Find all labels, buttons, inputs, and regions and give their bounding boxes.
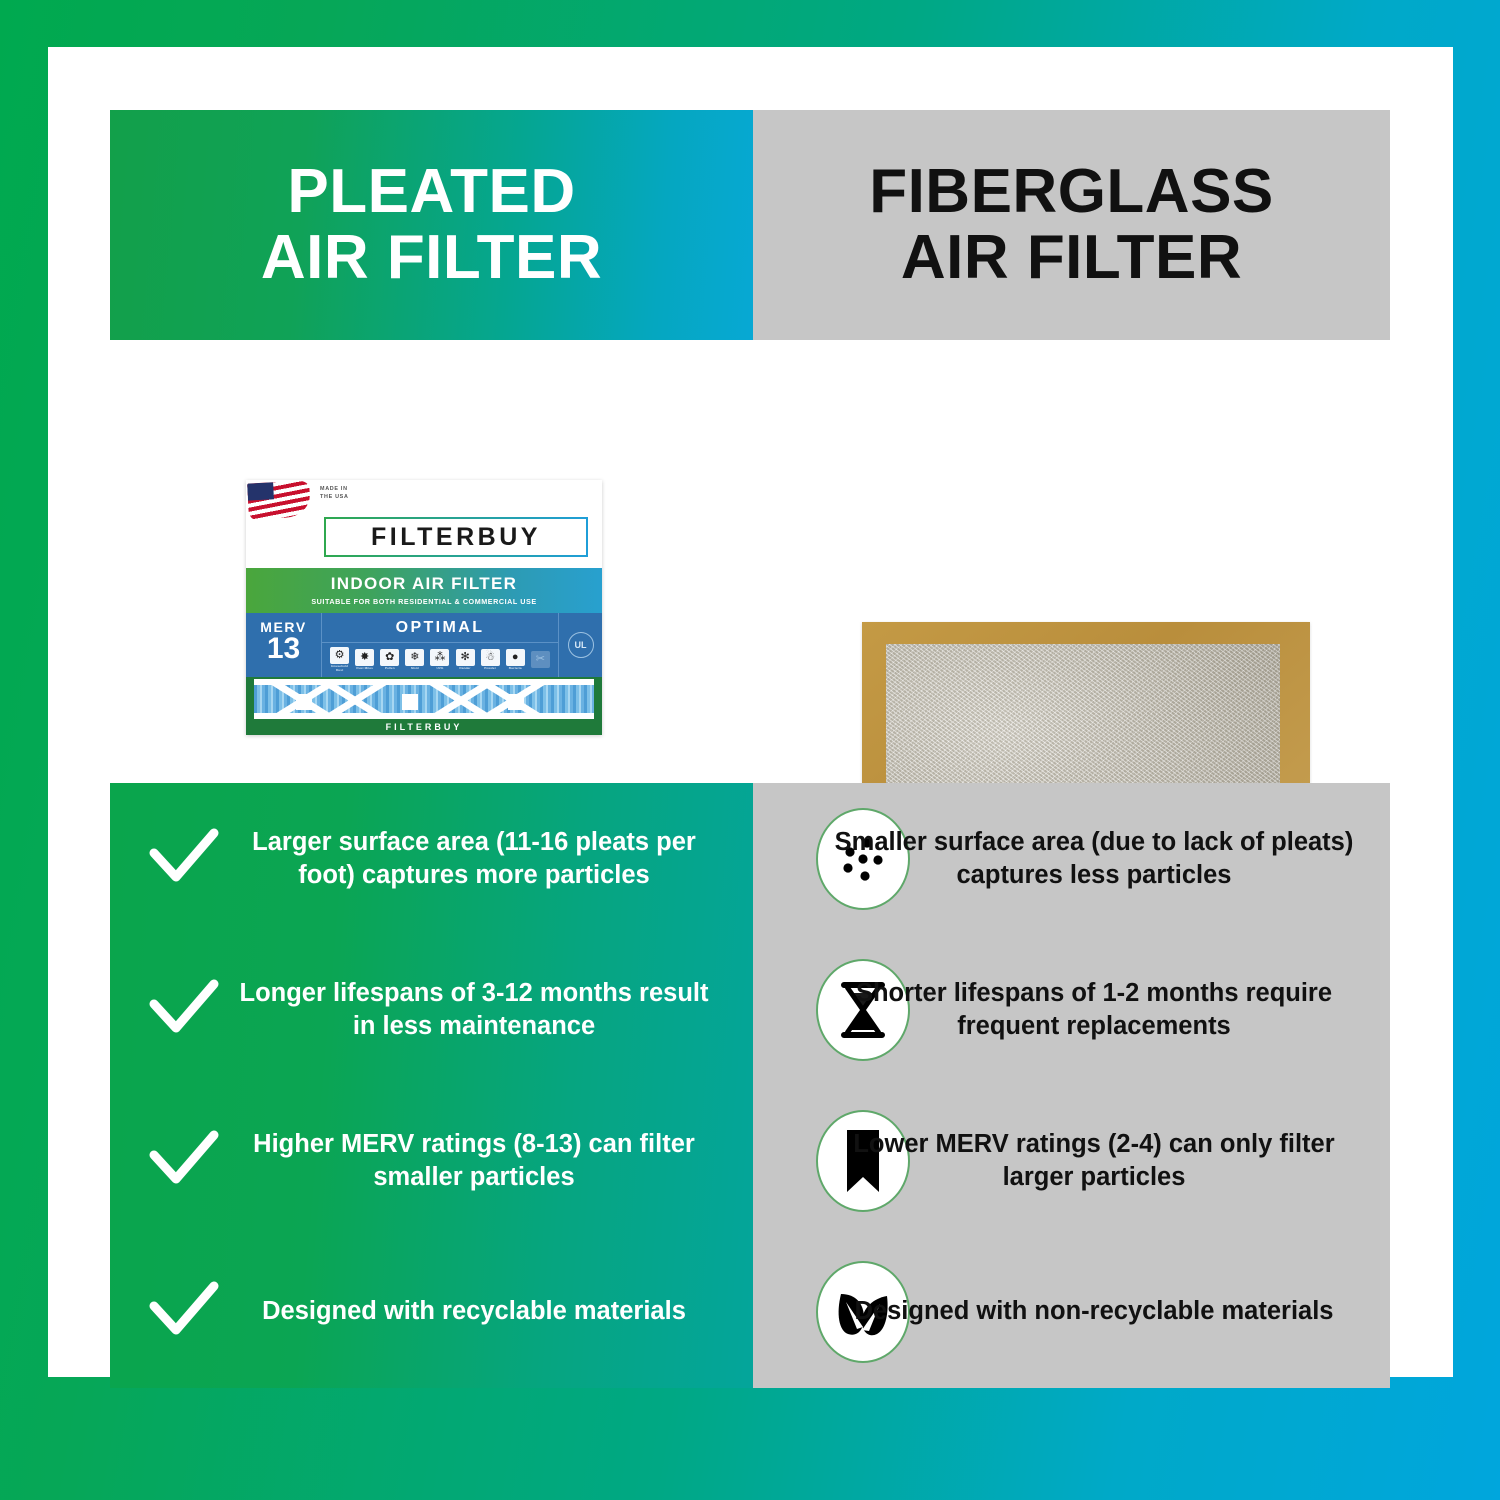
row-right-text: Lower MERV ratings (2-4) can only filter… [828,1128,1360,1193]
capability-icon-smog: ☃Powder [479,649,502,671]
capability-icon-pollen: ✿Pollen [378,649,401,671]
infographic-canvas: PLEATED AIR FILTER FIBERGLASS AIR FILTER… [110,110,1390,1388]
header-pleated: PLEATED AIR FILTER [110,110,753,340]
merv-value: 13 [246,635,321,664]
filterbuy-logo: FILTERBUY [324,517,588,557]
tier-label: OPTIMAL [322,613,558,643]
us-flag-icon [247,480,311,519]
household-dust-icon: ⚙ [330,647,349,664]
capability-icon-dander: ✻Dander [454,649,477,671]
comparison-row: Longer lifespans of 3-12 months result i… [110,934,1390,1085]
bacteria-icon: ● [506,649,525,666]
capability-icon-household-dust: ⚙HouseholdDust [328,647,351,673]
made-in-usa-label: MADE INTHE USA [320,485,349,501]
capability-icon-disabled: ✂ [529,651,552,670]
row-left-text: Designed with recyclable materials [228,1295,720,1328]
virus-icon: ⁂ [430,649,449,666]
row-left-text: Higher MERV ratings (8-13) can filter sm… [228,1128,720,1193]
checkmark-icon [148,823,220,895]
merv-spec-bar: MERV 13 OPTIMAL UL ⚙HouseholdDust ✸Dust … [246,613,602,677]
pleat-media-texture [254,679,594,719]
mold-icon: ❄ [405,649,424,666]
banner-subtitle: SUITABLE FOR BOTH RESIDENTIAL & COMMERCI… [246,594,602,606]
dust-mites-icon: ✸ [355,649,374,666]
header-pleated-line1: PLEATED [261,159,602,225]
filter-footer-brand: FILTERBUY [246,719,602,735]
checkmark-icon [148,1125,220,1197]
comparison-row: Larger surface area (11-16 pleats per fo… [110,783,1390,934]
merv-rating-cell: MERV 13 [246,613,322,677]
comparison-row: Higher MERV ratings (8-13) can filter sm… [110,1085,1390,1236]
disabled-feature-icon: ✂ [531,651,550,668]
ul-certification-icon: UL [568,632,594,658]
indoor-air-filter-banner: INDOOR AIR FILTER SUITABLE FOR BOTH RESI… [246,568,602,613]
header-pleated-line2: AIR FILTER [261,225,602,291]
row-left-text: Larger surface area (11-16 pleats per fo… [228,826,720,891]
capability-icon-dust-mites: ✸Dust Mites [353,649,376,671]
pet-dander-icon: ✻ [456,649,475,666]
capability-icon-virus: ⁂UVG [428,649,451,671]
header-fiberglass-line2: AIR FILTER [869,225,1274,291]
filterbuy-wordmark: FILTERBUY [371,523,541,552]
row-right-text: Smaller surface area (due to lack of ple… [828,826,1360,891]
capability-icon-bacteria: ●Bacteria [504,649,527,671]
header-row: PLEATED AIR FILTER FIBERGLASS AIR FILTER [110,110,1390,340]
checkmark-icon [148,974,220,1046]
capability-icon-strip: ⚙HouseholdDust ✸Dust Mites ✿Pollen ❄Mold… [322,643,558,677]
header-fiberglass-line1: FIBERGLASS [869,159,1274,225]
banner-title: INDOOR AIR FILTER [246,568,602,594]
comparison-panel: Larger surface area (11-16 pleats per fo… [110,783,1390,1388]
ul-certification-cell: UL [558,613,602,677]
product-image-band: MADE INTHE USA FILTERBUY INDOOR AIR FILT… [110,340,1390,783]
pleated-filter-product-image: MADE INTHE USA FILTERBUY INDOOR AIR FILT… [246,480,602,735]
outer-gradient-frame: PLEATED AIR FILTER FIBERGLASS AIR FILTER… [0,0,1500,1500]
pleated-media-area: FILTERBUY [246,677,602,735]
comparison-row: Designed with recyclable materials Desig… [110,1236,1390,1387]
checkmark-icon [148,1276,220,1348]
filter-box-top: MADE INTHE USA FILTERBUY [246,480,602,568]
capability-icon-mold: ❄Mold [403,649,426,671]
header-fiberglass: FIBERGLASS AIR FILTER [753,110,1390,340]
row-left-text: Longer lifespans of 3-12 months result i… [228,977,720,1042]
pollen-icon: ✿ [380,649,399,666]
row-right-text: Designed with non-recyclable materials [828,1295,1360,1328]
powder-smoke-icon: ☃ [481,649,500,666]
support-lattice [254,679,594,719]
row-right-text: Shorter lifespans of 1-2 months require … [828,977,1360,1042]
